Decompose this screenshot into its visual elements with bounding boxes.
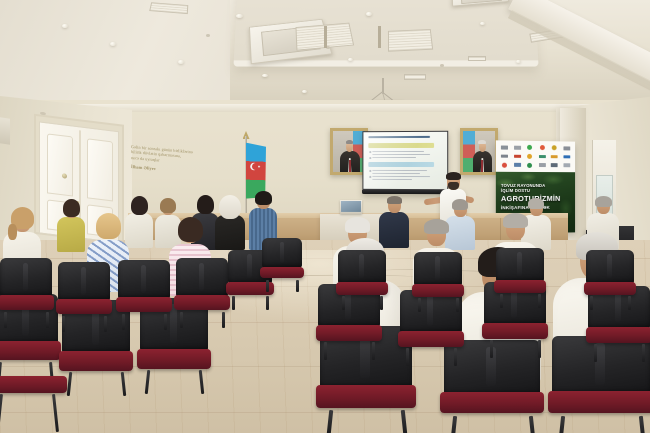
logo-item bbox=[549, 153, 560, 161]
chair-back bbox=[118, 260, 170, 299]
chair-leg bbox=[327, 410, 333, 433]
chair-leg bbox=[628, 296, 631, 310]
chair-seat bbox=[116, 297, 172, 312]
chair-seat bbox=[260, 267, 303, 278]
chair-seat bbox=[316, 325, 383, 341]
chair-seat bbox=[584, 282, 636, 295]
slide-title-bar bbox=[368, 136, 430, 139]
chair-seat bbox=[398, 331, 465, 347]
spotlight-icon bbox=[262, 74, 268, 77]
chair-leg bbox=[372, 342, 375, 360]
conference-chair[interactable] bbox=[586, 250, 634, 308]
logo-item bbox=[499, 161, 511, 169]
slide-text-line bbox=[372, 173, 420, 174]
logo-item bbox=[499, 143, 511, 151]
chair-seat bbox=[494, 280, 546, 293]
laptop-icon[interactable] bbox=[340, 200, 362, 214]
person-hair bbox=[178, 217, 203, 242]
logo-item bbox=[549, 144, 560, 152]
person-hair bbox=[160, 198, 176, 213]
chair-leg bbox=[538, 340, 541, 358]
chair-back bbox=[58, 262, 110, 301]
audience-person bbox=[56, 200, 86, 252]
chair-back bbox=[496, 248, 544, 282]
logo-item bbox=[512, 161, 524, 169]
logo-item bbox=[512, 144, 524, 152]
slide-text-line bbox=[372, 157, 416, 158]
chair-seat bbox=[336, 282, 388, 295]
conference-chair[interactable] bbox=[262, 238, 302, 290]
spotlight-icon bbox=[516, 60, 521, 63]
chair-leg bbox=[454, 348, 457, 366]
chair-seat bbox=[440, 392, 544, 413]
slide-text-line bbox=[372, 170, 427, 171]
conference-chair[interactable] bbox=[58, 262, 110, 330]
sprinkler-icon bbox=[206, 34, 210, 37]
chair-leg bbox=[639, 416, 645, 433]
table-leg bbox=[324, 26, 327, 48]
chair-seat bbox=[482, 323, 549, 339]
door-panel bbox=[87, 138, 113, 201]
logo-item bbox=[561, 153, 572, 161]
slide-text-line bbox=[372, 179, 412, 180]
logo-item bbox=[524, 144, 535, 152]
sprinkler-icon bbox=[440, 64, 444, 67]
chair-seat bbox=[137, 349, 210, 369]
person-hair bbox=[452, 199, 468, 210]
logo-item bbox=[536, 161, 547, 169]
chair-leg bbox=[594, 344, 597, 362]
headscarf bbox=[219, 195, 241, 219]
logo-item bbox=[561, 144, 572, 152]
chair-seat bbox=[59, 351, 132, 371]
chair-back bbox=[262, 238, 302, 268]
chair-seat bbox=[412, 284, 464, 297]
portrait-right bbox=[460, 128, 498, 175]
person-hair bbox=[503, 213, 528, 228]
person-torso bbox=[215, 215, 245, 250]
person-hair bbox=[96, 213, 121, 239]
portrait-hair bbox=[478, 140, 486, 145]
chair-leg bbox=[164, 314, 167, 330]
slide-text-line bbox=[372, 151, 424, 152]
chair-leg bbox=[500, 294, 503, 308]
conference-hall-photograph: Gəlin bir sonrakı günün birliklərinə bil… bbox=[0, 0, 650, 433]
crescent-icon bbox=[252, 163, 259, 170]
chair-seat bbox=[174, 295, 230, 310]
chair-seat bbox=[0, 295, 54, 310]
chair-leg bbox=[296, 280, 299, 292]
chair-back bbox=[414, 252, 462, 286]
chair-back bbox=[586, 250, 634, 284]
slide-text-line bbox=[372, 154, 430, 155]
chair-leg bbox=[418, 298, 421, 312]
person-hair bbox=[255, 191, 272, 205]
chair-leg bbox=[4, 312, 7, 328]
chair-seat bbox=[548, 391, 650, 413]
chair-leg bbox=[180, 312, 183, 328]
spotlight-icon bbox=[302, 90, 307, 93]
chair-seat bbox=[0, 376, 67, 393]
spotlight-icon bbox=[236, 14, 243, 18]
chair-leg bbox=[52, 394, 59, 432]
logo-item bbox=[512, 152, 524, 160]
conference-chair[interactable] bbox=[496, 248, 544, 306]
partner-logos bbox=[496, 140, 575, 172]
chair-leg bbox=[456, 298, 459, 312]
chair-leg bbox=[406, 348, 409, 366]
chair-leg bbox=[46, 312, 49, 328]
spotlight-icon bbox=[110, 42, 116, 46]
conference-chair[interactable] bbox=[176, 258, 228, 326]
chair-seat bbox=[56, 299, 112, 314]
chair-leg bbox=[451, 416, 457, 433]
conference-chair[interactable] bbox=[0, 258, 52, 326]
chair-seat bbox=[316, 385, 415, 409]
spotlight-icon bbox=[480, 22, 485, 25]
chair-leg bbox=[0, 394, 3, 432]
person-hair bbox=[63, 199, 80, 217]
chair-back bbox=[176, 258, 228, 297]
portrait-hair bbox=[346, 140, 354, 145]
slide-bullet bbox=[369, 176, 371, 178]
slide-bullet bbox=[369, 170, 371, 172]
person-ponytail bbox=[8, 224, 17, 240]
portrait-tie bbox=[349, 160, 351, 172]
chair-leg bbox=[266, 296, 269, 310]
chair-seat bbox=[0, 341, 61, 360]
laptop-screen bbox=[341, 201, 361, 212]
spotlight-icon bbox=[366, 12, 372, 16]
air-vent-icon bbox=[468, 56, 486, 61]
slide-bullet bbox=[369, 157, 371, 159]
logo-item bbox=[561, 162, 572, 170]
spotlight-icon bbox=[62, 24, 68, 28]
person-hair bbox=[345, 217, 370, 233]
chair-leg bbox=[559, 416, 565, 433]
door-lock-icon bbox=[62, 173, 67, 179]
conference-chair[interactable] bbox=[338, 250, 386, 308]
portrait-tie bbox=[481, 160, 483, 172]
chair-leg bbox=[122, 314, 125, 330]
chair-leg bbox=[490, 340, 493, 358]
person-torso bbox=[57, 217, 85, 252]
person-hair bbox=[528, 198, 544, 209]
chair-leg bbox=[232, 296, 235, 310]
chair-leg bbox=[401, 410, 407, 433]
air-vent-icon bbox=[404, 74, 426, 80]
conference-chair[interactable] bbox=[0, 376, 64, 433]
logo-item bbox=[536, 153, 547, 161]
chair-leg bbox=[104, 316, 107, 332]
slide-highlight-yellow bbox=[368, 143, 434, 148]
audience-person-headscarf bbox=[214, 196, 246, 250]
chair-back bbox=[338, 250, 386, 284]
person-hair bbox=[595, 196, 612, 207]
logo-item bbox=[549, 161, 560, 169]
person-hair bbox=[131, 196, 148, 215]
person-hair bbox=[424, 219, 449, 234]
presenter-hair bbox=[446, 172, 461, 180]
spotlight-icon bbox=[178, 60, 184, 64]
chair-seat bbox=[586, 327, 650, 343]
logo-item bbox=[499, 152, 511, 160]
logo-item bbox=[524, 153, 535, 161]
door-panel bbox=[47, 133, 73, 196]
chair-back bbox=[0, 258, 52, 297]
chair-leg bbox=[266, 280, 269, 292]
slide-text-line bbox=[372, 176, 430, 177]
wall-monitor bbox=[0, 117, 10, 145]
chair-leg bbox=[324, 342, 327, 360]
chair-leg bbox=[62, 316, 65, 332]
chair-leg bbox=[342, 296, 345, 310]
chair-leg bbox=[222, 312, 225, 328]
slide-bullet bbox=[369, 151, 371, 153]
chair-leg bbox=[642, 344, 645, 362]
person-hair bbox=[387, 196, 402, 204]
conference-chair[interactable] bbox=[414, 252, 462, 310]
chair-leg bbox=[380, 296, 383, 310]
conference-chair[interactable] bbox=[118, 260, 170, 328]
air-vent-icon bbox=[388, 29, 433, 52]
chair-leg bbox=[590, 296, 593, 310]
presenter-beard bbox=[448, 182, 459, 190]
chair-leg bbox=[538, 294, 541, 308]
chair-leg bbox=[529, 416, 535, 433]
logo-item bbox=[524, 161, 535, 169]
spotlight-icon bbox=[348, 58, 353, 61]
logo-item bbox=[536, 144, 547, 152]
slide-highlight-blue bbox=[368, 162, 434, 167]
person-hair bbox=[197, 195, 214, 214]
table-leg bbox=[378, 26, 381, 48]
